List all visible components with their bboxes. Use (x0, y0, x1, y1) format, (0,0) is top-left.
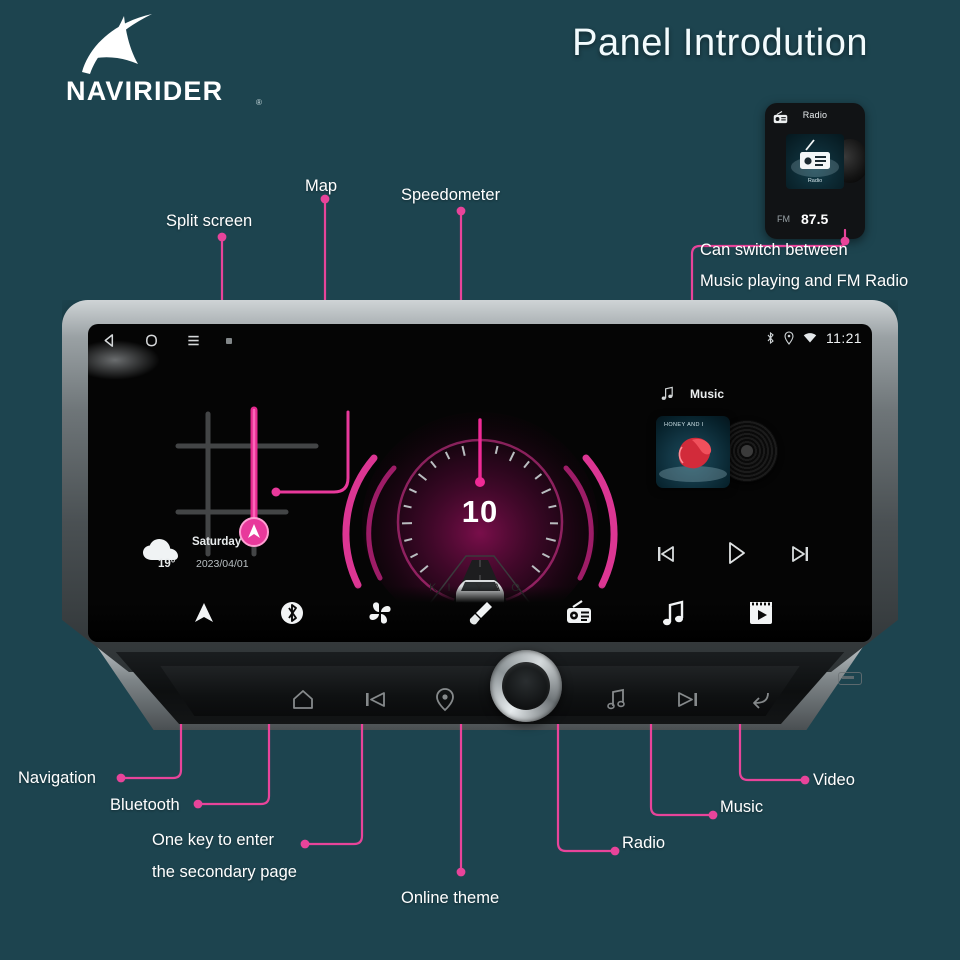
radio-band-label: FM (777, 214, 790, 224)
play-icon[interactable] (723, 540, 749, 566)
annotation-label-map: Map (305, 177, 337, 196)
weather-widget: Saturday 19° 2023/04/01 (136, 536, 326, 584)
radio-inset-footer: FM 87.5 (765, 211, 865, 231)
annotation-label-navigation: Navigation (18, 769, 96, 788)
previous-track-icon[interactable] (656, 544, 676, 564)
annotation-label-bluetooth: Bluetooth (110, 796, 180, 815)
radio-inset-card[interactable]: Radio Radio FM 87.5 (765, 103, 865, 239)
annotation-label-speedometer: Speedometer (401, 186, 500, 205)
speedometer-value: 10 (340, 494, 620, 530)
next-track-icon[interactable] (790, 544, 810, 564)
annotation-label-online-theme: Online theme (401, 889, 499, 908)
music-widget[interactable]: Music HONEY AND I (628, 380, 858, 596)
annotation-label-split-screen: Split screen (166, 212, 252, 231)
music-note-icon (660, 386, 675, 401)
annotation-label-radio: Radio (622, 834, 665, 853)
previous-track-icon[interactable] (362, 686, 388, 712)
music-note-icon[interactable] (603, 686, 629, 712)
navirider-swoosh-logo-icon (80, 14, 180, 76)
wifi-icon (803, 332, 817, 344)
brand-trademark: ® (256, 98, 262, 107)
annotation-label-radio-switch-line1: Can switch between (700, 241, 848, 260)
car-head-unit: 11:21 (62, 300, 898, 700)
annotation-label-one-key-line1: One key to enter (152, 831, 274, 850)
radio-inset-artwork: Radio (786, 134, 844, 189)
annotation-label-radio-switch-line2: Music playing and FM Radio (700, 272, 908, 291)
status-bar-right-cluster: 11:21 (766, 330, 862, 346)
location-pin-icon[interactable] (432, 686, 458, 712)
app-dock (88, 586, 872, 642)
back-arrow-icon[interactable] (747, 686, 773, 712)
music-note-icon[interactable] (658, 598, 688, 628)
android-status-bar: 11:21 (88, 324, 872, 358)
radio-inset-header: Radio (765, 107, 865, 127)
annotation-label-music: Music (720, 798, 763, 817)
weather-temperature: 19° (158, 558, 175, 570)
album-artwork: HONEY AND I (656, 416, 730, 488)
page-title: Panel Introdution (572, 22, 868, 65)
home-icon[interactable] (290, 686, 316, 712)
weather-date: 2023/04/01 (196, 558, 249, 570)
navigation-arrow-icon[interactable] (189, 598, 219, 628)
poster-canvas: NAVIRIDER ® Panel Introdution Radio (0, 0, 960, 960)
bluetooth-icon (766, 331, 775, 345)
radio-icon[interactable] (564, 598, 594, 628)
music-transport-controls (628, 540, 858, 574)
radio-inset-art-caption: Radio (786, 178, 844, 184)
weather-day: Saturday (192, 536, 241, 548)
radio-frequency-value: 87.5 (801, 211, 828, 227)
brand-name: NAVIRIDER (66, 76, 223, 107)
album-title: HONEY AND I (664, 422, 704, 428)
video-clapper-icon[interactable] (746, 598, 776, 628)
usb-port-icon (838, 672, 862, 685)
bluetooth-icon[interactable] (277, 598, 307, 628)
paint-brush-theme-icon[interactable] (465, 598, 495, 628)
radio-inset-title: Radio (765, 110, 865, 120)
hamburger-split-screen-icon[interactable] (186, 333, 201, 348)
apps-grid-icon[interactable] (365, 598, 395, 628)
brand-logo: NAVIRIDER ® (66, 14, 276, 110)
music-widget-label: Music (690, 387, 724, 401)
screen-corner-glow (88, 340, 160, 380)
location-pin-icon (784, 331, 794, 345)
annotation-label-video: Video (813, 771, 855, 790)
next-track-icon[interactable] (675, 686, 701, 712)
annotation-label-one-key-line2: the secondary page (152, 863, 297, 882)
recent-apps-icon[interactable] (224, 336, 234, 346)
rotary-volume-knob[interactable] (490, 650, 562, 722)
status-bar-clock: 11:21 (826, 330, 862, 346)
hardware-button-panel (140, 666, 820, 716)
unit-display[interactable]: 11:21 (88, 324, 872, 642)
